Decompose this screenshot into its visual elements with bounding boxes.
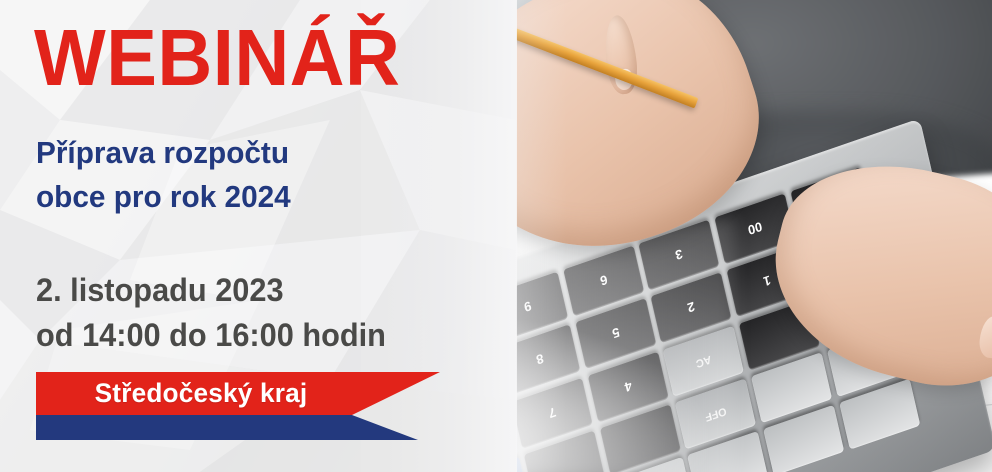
headline: WEBINÁŘ [34,22,400,94]
event-date: 2. listopadu 2023 [36,268,386,313]
subtitle-line-1: Příprava rozpočtu [36,131,291,175]
right-thumb [978,315,992,359]
webinar-promo-banner: 14 564 765 322 14 456 876 334 554 333 43… [0,0,992,472]
event-datetime: 2. listopadu 2023 od 14:00 do 16:00 hodi… [36,268,386,359]
subtitle-line-2: obce pro rok 2024 [36,175,291,219]
ribbon-label: Středočeský kraj [41,372,361,415]
region-ribbon: Středočeský kraj [36,372,440,442]
event-time: od 14:00 do 16:00 hodin [36,313,386,358]
subtitle: Příprava rozpočtu obce pro rok 2024 [36,131,291,219]
